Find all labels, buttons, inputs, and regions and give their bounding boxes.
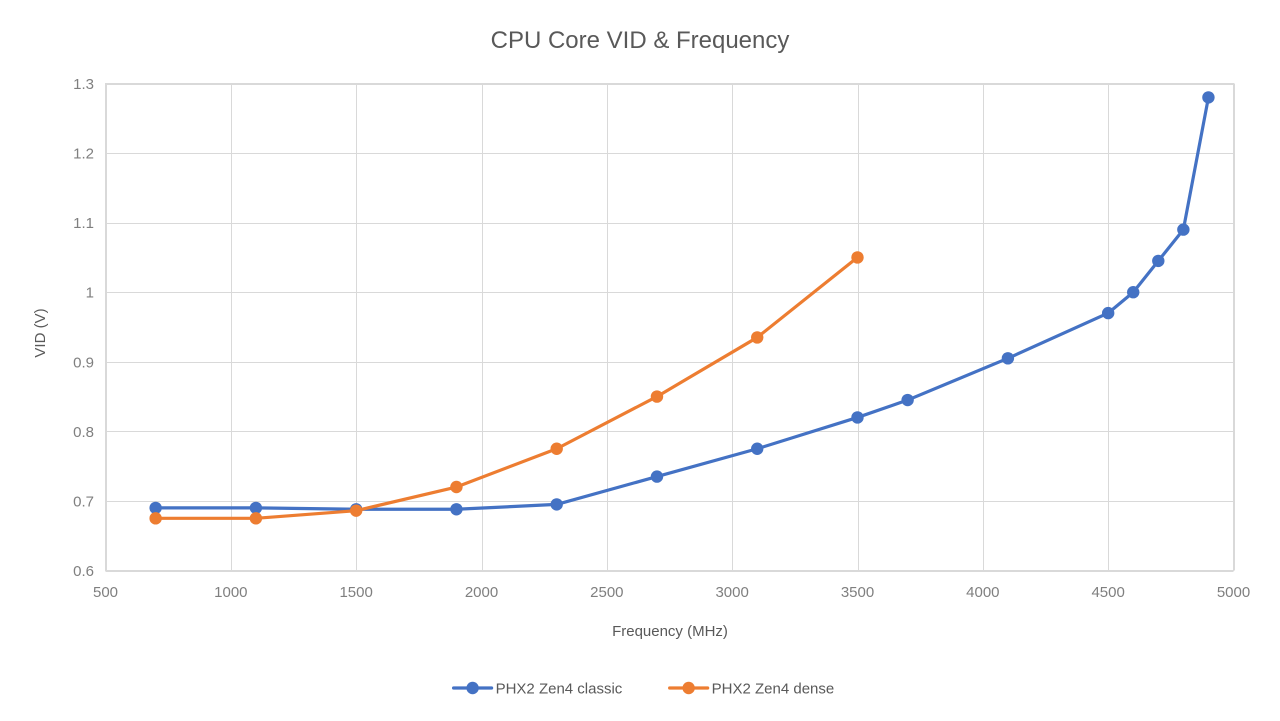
series-data-point <box>751 443 763 455</box>
x-tick-label: 1000 <box>214 584 247 601</box>
series-data-point <box>149 512 161 524</box>
y-axis-title: VID (V) <box>32 308 49 357</box>
series-data-point <box>551 443 563 455</box>
series-data-point <box>651 470 663 482</box>
legend-swatch-marker <box>682 682 694 694</box>
series-data-point <box>651 390 663 402</box>
y-tick-label: 0.7 <box>73 493 94 510</box>
series-data-point <box>1177 223 1189 235</box>
x-axis-title: Frequency (MHz) <box>612 623 728 640</box>
series-data-point <box>1202 91 1214 103</box>
y-tick-label: 0.8 <box>73 424 94 441</box>
y-tick-label: 0.6 <box>73 563 94 580</box>
x-tick-label: 3000 <box>715 584 748 601</box>
series-data-point <box>751 331 763 343</box>
x-tick-label: 4500 <box>1091 584 1124 601</box>
series-data-point <box>350 504 362 516</box>
series-data-point <box>1127 286 1139 298</box>
series-data-point <box>1102 307 1114 319</box>
series-data-point <box>250 512 262 524</box>
chart-background <box>0 0 1280 721</box>
series-data-point <box>1152 255 1164 267</box>
series-data-point <box>450 503 462 515</box>
x-tick-label: 500 <box>93 584 118 601</box>
y-tick-label: 1.2 <box>73 146 94 163</box>
series-data-point <box>551 498 563 510</box>
x-tick-label: 3500 <box>841 584 874 601</box>
x-tick-label: 1500 <box>339 584 372 601</box>
y-tick-label: 1 <box>86 285 94 302</box>
y-tick-label: 1.3 <box>73 76 94 93</box>
y-tick-label: 0.9 <box>73 354 94 371</box>
x-tick-label: 2000 <box>465 584 498 601</box>
x-tick-label: 2500 <box>590 584 623 601</box>
legend-label: PHX2 Zen4 classic <box>496 681 623 698</box>
chart-container: CPU Core VID & Frequency 500100015002000… <box>0 0 1280 721</box>
series-data-point <box>851 251 863 263</box>
series-data-point <box>901 394 913 406</box>
chart-title: CPU Core VID & Frequency <box>491 27 790 54</box>
x-tick-label: 4000 <box>966 584 999 601</box>
series-data-point <box>851 411 863 423</box>
series-data-point <box>1002 352 1014 364</box>
y-tick-label: 1.1 <box>73 215 94 232</box>
legend-swatch-marker <box>466 682 478 694</box>
series-data-point <box>450 481 462 493</box>
x-tick-label: 5000 <box>1217 584 1250 601</box>
legend-label: PHX2 Zen4 dense <box>712 681 835 698</box>
